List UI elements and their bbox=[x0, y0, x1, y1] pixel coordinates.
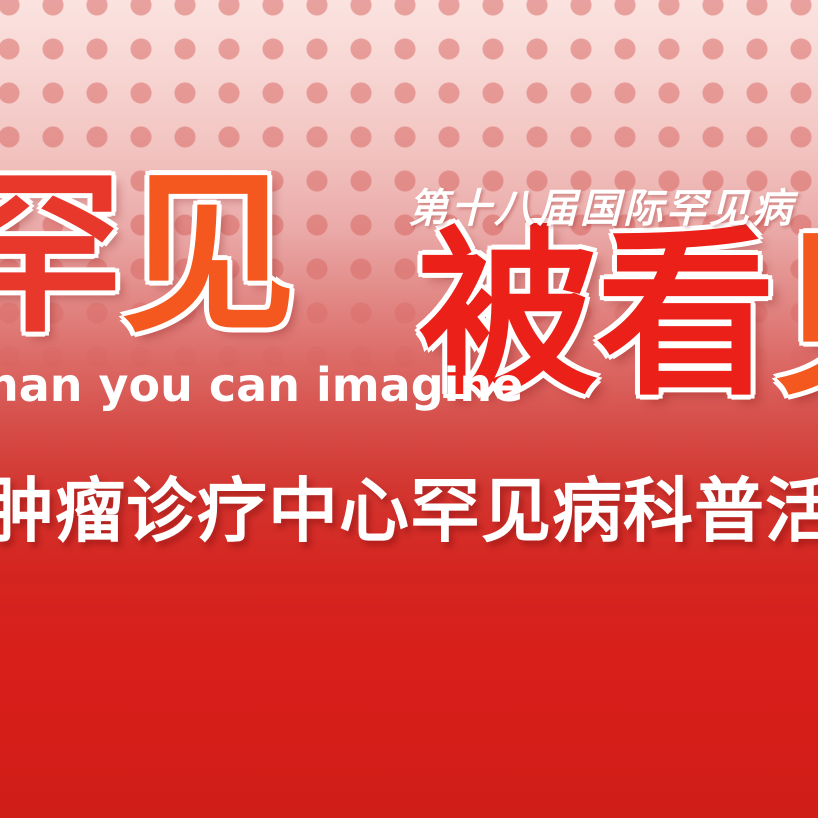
rare-disease-day-poster: 第十八届国际罕见病 罕见 被看见 han you can imagine 肿瘤诊… bbox=[0, 0, 818, 818]
headline-right-char-2: 看 bbox=[596, 211, 774, 420]
headline-left-char-1: 罕 bbox=[0, 154, 121, 357]
event-subtitle: 肿瘤诊疗中心罕见病科普活动 bbox=[0, 455, 818, 556]
event-kicker-text: 第十八届国际罕见病 bbox=[408, 176, 795, 234]
headline-right-char-3: 见 bbox=[774, 211, 818, 420]
headline-left-group: 罕见 bbox=[0, 168, 294, 343]
english-tagline: han you can imagine bbox=[0, 358, 523, 412]
headline-left-char-2: 见 bbox=[121, 154, 294, 357]
